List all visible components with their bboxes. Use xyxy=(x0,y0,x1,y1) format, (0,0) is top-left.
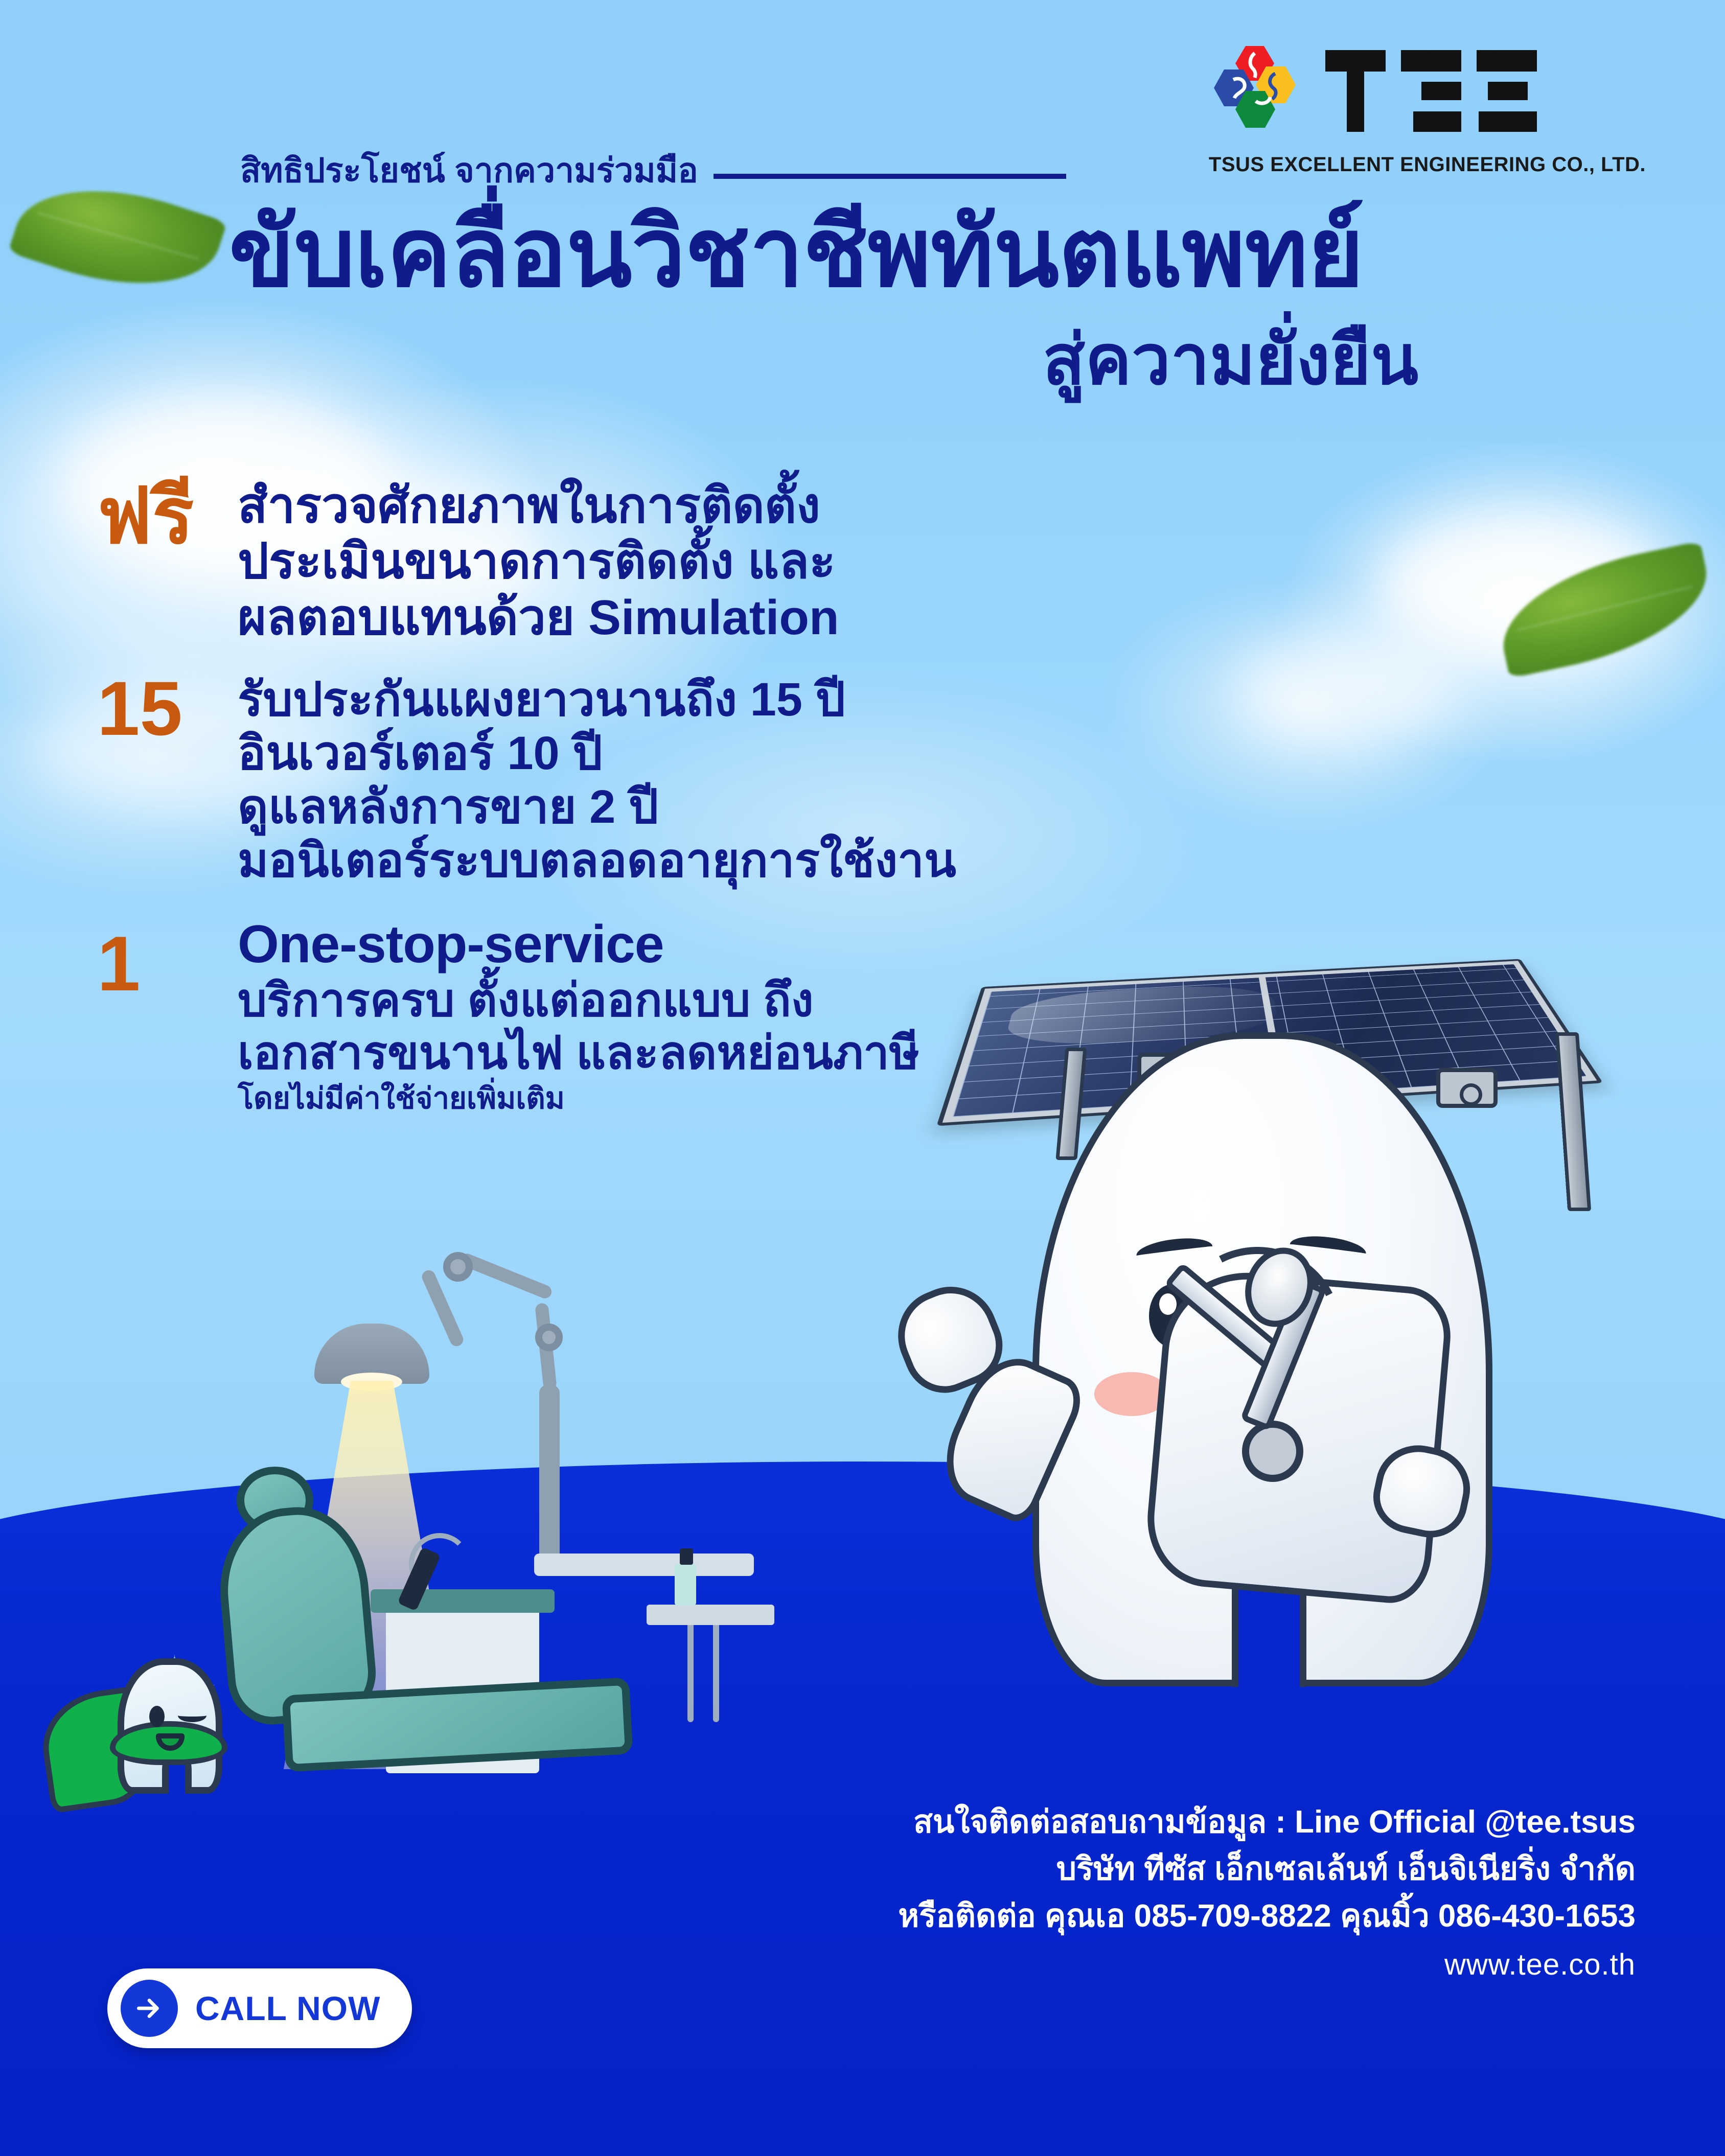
contact-line-line-official: สนใจติดต่อสอบถามข้อมูล : Line Official @… xyxy=(736,1799,1636,1846)
benefit-text: สำรวจศักยภาพในการติดตั้ง ประเมินขนาดการต… xyxy=(238,478,839,645)
dental-lamp-icon xyxy=(314,1324,429,1384)
benefit-fine-print: โดยไม่มีค่าใช้จ่ายเพิ่มเติม xyxy=(238,1082,919,1116)
benefit-badge: 1 xyxy=(97,914,238,1000)
soap-bottle-icon xyxy=(675,1564,696,1606)
tsus-emblem-icon xyxy=(1209,40,1311,142)
eyebrow-text: สิทธิประโยชน์ จากความร่วมมือ xyxy=(240,153,698,187)
benefit-line: ดูแลหลังการขาย 2 ปี xyxy=(238,780,956,834)
benefit-line: อินเวอร์เตอร์ 10 ปี xyxy=(238,727,956,780)
lamp-post xyxy=(539,1385,560,1564)
contact-line-phone-numbers: หรือติดต่อ คุณเอ 085-709-8822 คุณมิ้ว 08… xyxy=(736,1893,1636,1940)
benefit-badge: ฟรี xyxy=(97,478,238,552)
eyebrow-rule xyxy=(714,174,1066,179)
benefit-item-free: ฟรี สำรวจศักยภาพในการติดตั้ง ประเมินขนาด… xyxy=(97,478,1145,645)
stethoscope-chestpiece-icon xyxy=(1242,1421,1303,1482)
benefit-line: รับประกันแผงยาวนานถึง 15 ปี xyxy=(238,673,956,727)
contact-website[interactable]: www.tee.co.th xyxy=(736,1948,1636,1982)
company-logo: TSUS EXCELLENT ENGINEERING CO., LTD. xyxy=(1209,40,1646,176)
benefit-line: สำรวจศักยภาพในการติดตั้ง xyxy=(238,478,839,534)
lamp-joint-top xyxy=(443,1252,473,1282)
eyebrow-row: สิทธิประโยชน์ จากความร่วมมือ xyxy=(240,153,1066,187)
lamp-joint-elbow xyxy=(535,1324,563,1351)
benefit-badge: 15 xyxy=(97,673,238,744)
mascot-eyebrow-left xyxy=(1135,1235,1214,1267)
tooth-doctor-mascot xyxy=(915,828,1641,1829)
contact-line-company-name: บริษัท ทีซัส เอ็กเซลเล้นท์ เอ็นจิเนียริ่… xyxy=(736,1846,1636,1893)
footer-contact-block: สนใจติดต่อสอบถามข้อมูล : Line Official @… xyxy=(736,1799,1636,1982)
hero-tooth-eye xyxy=(149,1706,165,1727)
benefit-text: รับประกันแผงยาวนานถึง 15 ปี อินเวอร์เตอร… xyxy=(238,673,956,888)
benefit-line: มอนิเตอร์ระบบตลอดอายุการใช้งาน xyxy=(238,834,956,888)
equipment-arm-bar xyxy=(534,1554,754,1576)
page-title-line1: ขับเคลื่อนวิชาชีพทันตแพทย์ xyxy=(229,204,1363,300)
logo-wordmark xyxy=(1325,45,1540,137)
promotional-poster: TSUS EXCELLENT ENGINEERING CO., LTD. สิท… xyxy=(0,0,1725,2156)
call-now-button[interactable]: CALL NOW xyxy=(107,1968,412,2048)
dental-clinic-illustration xyxy=(130,1247,774,1773)
equipment-tube xyxy=(713,1625,719,1722)
benefit-lead: One-stop-service xyxy=(238,914,919,975)
arrow-right-icon xyxy=(121,1980,178,2037)
benefit-line: บริการครบ ตั้งแต่ออกแบบ ถึง xyxy=(238,975,919,1027)
benefit-line: ผลตอบแทนด้วย Simulation xyxy=(238,590,839,645)
benefit-line: ประเมินขนาดการติดตั้ง และ xyxy=(238,534,839,589)
equipment-tube xyxy=(687,1625,694,1722)
panel-clamp-right xyxy=(1436,1068,1498,1108)
lamp-arm-upper xyxy=(458,1251,554,1300)
hero-tooth-wink-eye xyxy=(178,1709,206,1722)
benefit-line: เอกสารขนานไฟ และลดหย่อนภาษี xyxy=(238,1027,919,1080)
page-title-line2: สู่ความยั่งยืน xyxy=(1043,325,1418,395)
cloud-decoration xyxy=(1237,634,1457,746)
instrument-tray xyxy=(371,1589,555,1613)
benefit-text: One-stop-service บริการครบ ตั้งแต่ออกแบบ… xyxy=(238,914,919,1116)
call-now-label: CALL NOW xyxy=(195,1989,380,2028)
sink-counter xyxy=(647,1605,774,1625)
logo-subtitle: TSUS EXCELLENT ENGINEERING CO., LTD. xyxy=(1209,153,1646,176)
